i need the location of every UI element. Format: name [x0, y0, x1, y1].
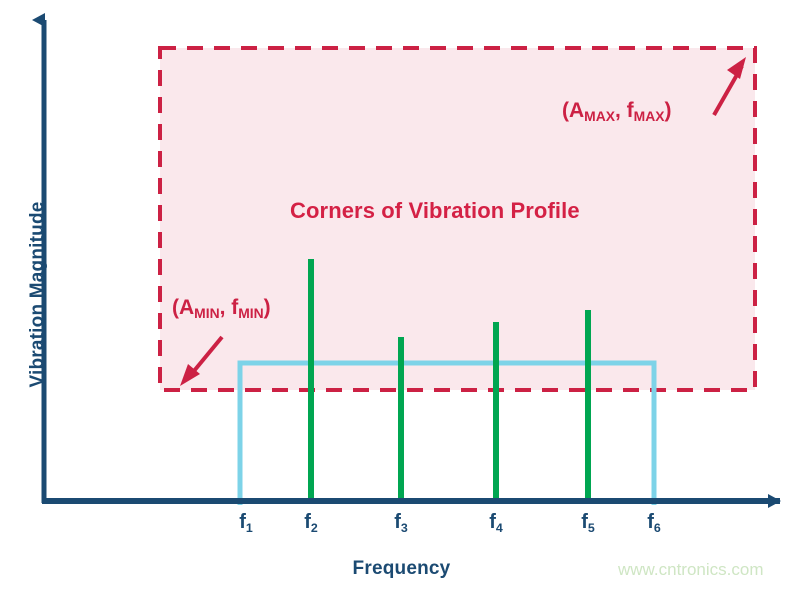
min-corner-close: ) — [264, 296, 271, 319]
tick-label-f5: f5 — [581, 512, 595, 532]
min-corner-sub-f: MIN — [238, 305, 263, 321]
tick-label-base: f — [489, 511, 496, 533]
tick-label-base: f — [581, 511, 588, 533]
tick-label-f1: f1 — [239, 512, 253, 532]
tick-label-f6: f6 — [647, 512, 661, 532]
tick-label-base: f — [394, 511, 401, 533]
tick-label-subscript: 1 — [246, 521, 253, 535]
tick-label-subscript: 3 — [401, 521, 408, 535]
tick-label-base: f — [239, 511, 246, 533]
max-corner-sub-a: MAX — [584, 108, 615, 124]
tick-label-f2: f2 — [304, 512, 318, 532]
watermark: www.cntronics.com — [618, 561, 763, 578]
min-corner-sub-a: MIN — [194, 305, 219, 321]
max-corner-mid: , f — [615, 99, 634, 122]
diagram-canvas — [0, 0, 803, 589]
tick-label-base: f — [304, 511, 311, 533]
max-corner-label: (AMAX, fMAX) — [562, 100, 671, 121]
tick-label-base: f — [647, 511, 654, 533]
tick-label-subscript: 4 — [496, 521, 503, 535]
min-corner-label: (AMIN, fMIN) — [172, 297, 271, 318]
tick-label-subscript: 5 — [588, 521, 595, 535]
max-corner-close: ) — [664, 99, 671, 122]
max-corner-open: (A — [562, 99, 584, 122]
max-corner-sub-f: MAX — [634, 108, 665, 124]
tick-label-subscript: 6 — [654, 521, 661, 535]
tick-label-f3: f3 — [394, 512, 408, 532]
region-title: Corners of Vibration Profile — [290, 200, 580, 222]
min-corner-open: (A — [172, 296, 194, 319]
tick-label-f4: f4 — [489, 512, 503, 532]
min-corner-mid: , f — [220, 296, 239, 319]
vibration-profile-figure: Vibration Magnitude Frequency Corners of… — [0, 0, 803, 589]
tick-label-subscript: 2 — [311, 521, 318, 535]
y-axis-title: Vibration Magnitude — [28, 0, 58, 589]
